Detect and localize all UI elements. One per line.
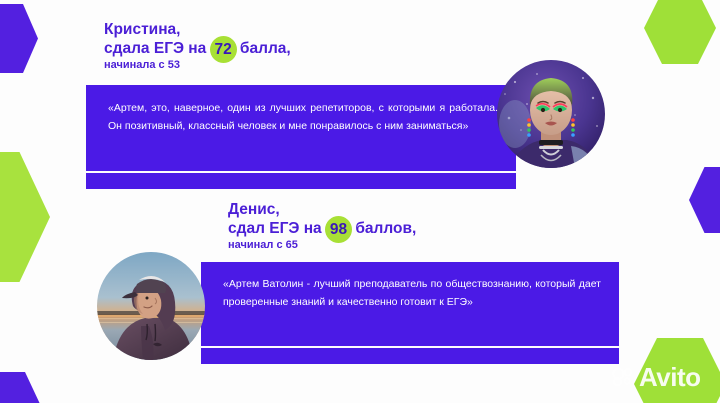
score-value-1: 72	[214, 41, 231, 58]
testimonial-card-2: «Артем Ватолин - лучший преподаватель по…	[201, 262, 619, 364]
testimonial-card-1-body: «Артем, это, наверное, один из лучших ре…	[86, 85, 516, 171]
hexagon-decoration-top-right	[644, 0, 716, 64]
card-divider-1	[86, 171, 516, 173]
score-value-2: 98	[330, 221, 347, 238]
avito-watermark: Avito	[612, 364, 701, 390]
quote-text-1: «Артем, это, наверное, один из лучших ре…	[108, 99, 498, 135]
testimonial-heading-1: Кристина, сдала ЕГЭ на 72 балла, начинал…	[104, 20, 291, 73]
score-badge-1: 72	[210, 36, 237, 63]
hexagon-decoration-bottom-left	[0, 372, 40, 403]
avito-circles-icon	[612, 367, 636, 387]
starting-score-1: начинала с 53	[104, 59, 291, 73]
avatar-kristina	[497, 60, 605, 168]
student-score-line-2: сдал ЕГЭ на 98 баллов,	[228, 219, 416, 238]
avatar-denis	[97, 252, 205, 360]
score-suffix-2: баллов,	[355, 220, 416, 237]
hexagon-decoration-top-left	[0, 4, 38, 73]
card-divider-2	[201, 346, 619, 348]
student-name-2: Денис,	[228, 200, 416, 219]
testimonial-card-1: «Артем, это, наверное, один из лучших ре…	[86, 85, 516, 189]
starting-score-2: начинал с 65	[228, 239, 416, 253]
score-prefix-2: сдал ЕГЭ на	[228, 220, 322, 237]
score-badge-2: 98	[325, 216, 352, 243]
avito-wordmark: Avito	[639, 364, 701, 390]
hexagon-decoration-middle-left	[0, 152, 50, 282]
hexagon-decoration-middle-right	[689, 167, 720, 233]
testimonial-heading-2: Денис, сдал ЕГЭ на 98 баллов, начинал с …	[228, 200, 416, 253]
testimonial-card-2-body: «Артем Ватолин - лучший преподаватель по…	[201, 262, 619, 346]
quote-text-2: «Артем Ватолин - лучший преподаватель по…	[223, 275, 601, 311]
student-name-1: Кристина,	[104, 20, 291, 39]
student-score-line-1: сдала ЕГЭ на 72 балла,	[104, 39, 291, 58]
slide-canvas: Кристина, сдала ЕГЭ на 72 балла, начинал…	[0, 0, 720, 403]
score-prefix-1: сдала ЕГЭ на	[104, 40, 206, 57]
score-suffix-1: балла,	[240, 40, 291, 57]
